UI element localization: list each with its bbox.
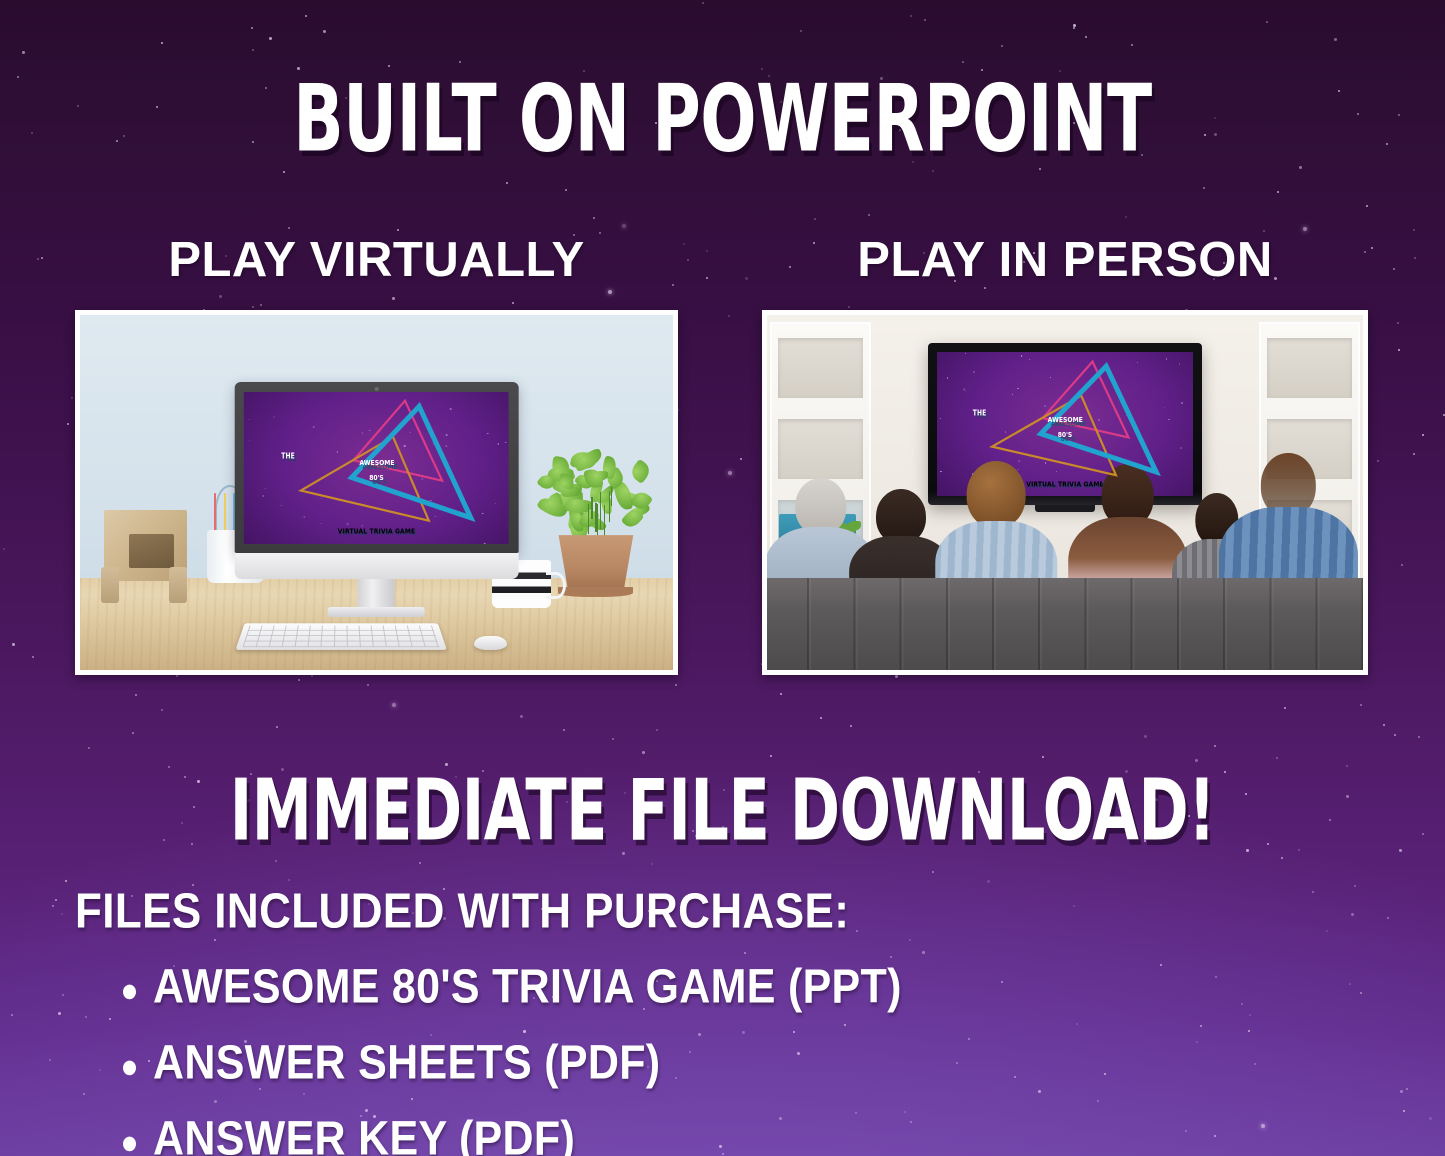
- slide-line-the: THE: [281, 452, 295, 461]
- desk-scene: THE AWESOME 80'S VIRTUAL TRIVIA GAME: [80, 315, 673, 670]
- slide-line-awesome: AWESOME: [1047, 418, 1082, 425]
- awesome-80s-slide: THE AWESOME 80'S VIRTUAL TRIVIA GAME: [244, 392, 509, 544]
- files-included-block: FILES INCLUDED WITH PURCHASE: AWESOME 80…: [75, 884, 1075, 1156]
- wooden-decor-leg: [101, 567, 119, 603]
- page-title: BUILT ON POWERPOINT: [29, 66, 1416, 173]
- slide-line-awesome: AWESOME: [359, 461, 394, 468]
- wall-mounted-tv: THE AWESOME 80'S VIRTUAL TRIVIA GAME: [928, 343, 1202, 505]
- computer-stand-foot: [328, 607, 425, 617]
- living-room-scene: THE AWESOME 80'S VIRTUAL TRIVIA GAME: [767, 315, 1363, 670]
- computer-chin: [234, 553, 519, 579]
- potted-plant-foliage: [537, 450, 656, 542]
- list-item: AWESOME 80'S TRIVIA GAME (PPT): [75, 960, 1075, 1015]
- computer-screen: THE AWESOME 80'S VIRTUAL TRIVIA GAME: [244, 392, 509, 544]
- list-item: ANSWER SHEETS (PDF): [75, 1036, 1075, 1091]
- pot-saucer: [558, 587, 633, 598]
- files-list: AWESOME 80'S TRIVIA GAME (PPT) ANSWER SH…: [75, 960, 1075, 1156]
- wooden-decor-leg: [169, 567, 187, 603]
- slide-line-the: THE: [973, 409, 987, 418]
- desktop-computer: THE AWESOME 80'S VIRTUAL TRIVIA GAME: [234, 382, 519, 579]
- keyboard: [235, 624, 446, 651]
- list-item: ANSWER KEY (PDF): [75, 1112, 1075, 1156]
- computer-stand-neck: [358, 579, 395, 609]
- photo-play-in-person: THE AWESOME 80'S VIRTUAL TRIVIA GAME: [762, 310, 1368, 675]
- panel-heading-play-in-person: PLAY IN PERSON: [762, 232, 1368, 288]
- slide-line-year: 80'S: [369, 476, 384, 483]
- promo-poster: BUILT ON POWERPOINT PLAY VIRTUALLY PLAY …: [0, 0, 1445, 1156]
- tv-screen: THE AWESOME 80'S VIRTUAL TRIVIA GAME: [937, 352, 1193, 496]
- sofa: [767, 578, 1363, 670]
- photo-play-virtually: THE AWESOME 80'S VIRTUAL TRIVIA GAME: [75, 310, 678, 675]
- panel-heading-play-virtually: PLAY VIRTUALLY: [75, 232, 678, 288]
- download-title: IMMEDIATE FILE DOWNLOAD!: [29, 762, 1416, 860]
- slide-line-year: 80'S: [1058, 432, 1073, 439]
- files-heading: FILES INCLUDED WITH PURCHASE:: [75, 884, 1075, 940]
- webcam: [375, 387, 379, 391]
- mouse: [474, 636, 507, 650]
- awesome-80s-slide: THE AWESOME 80'S VIRTUAL TRIVIA GAME: [937, 352, 1193, 496]
